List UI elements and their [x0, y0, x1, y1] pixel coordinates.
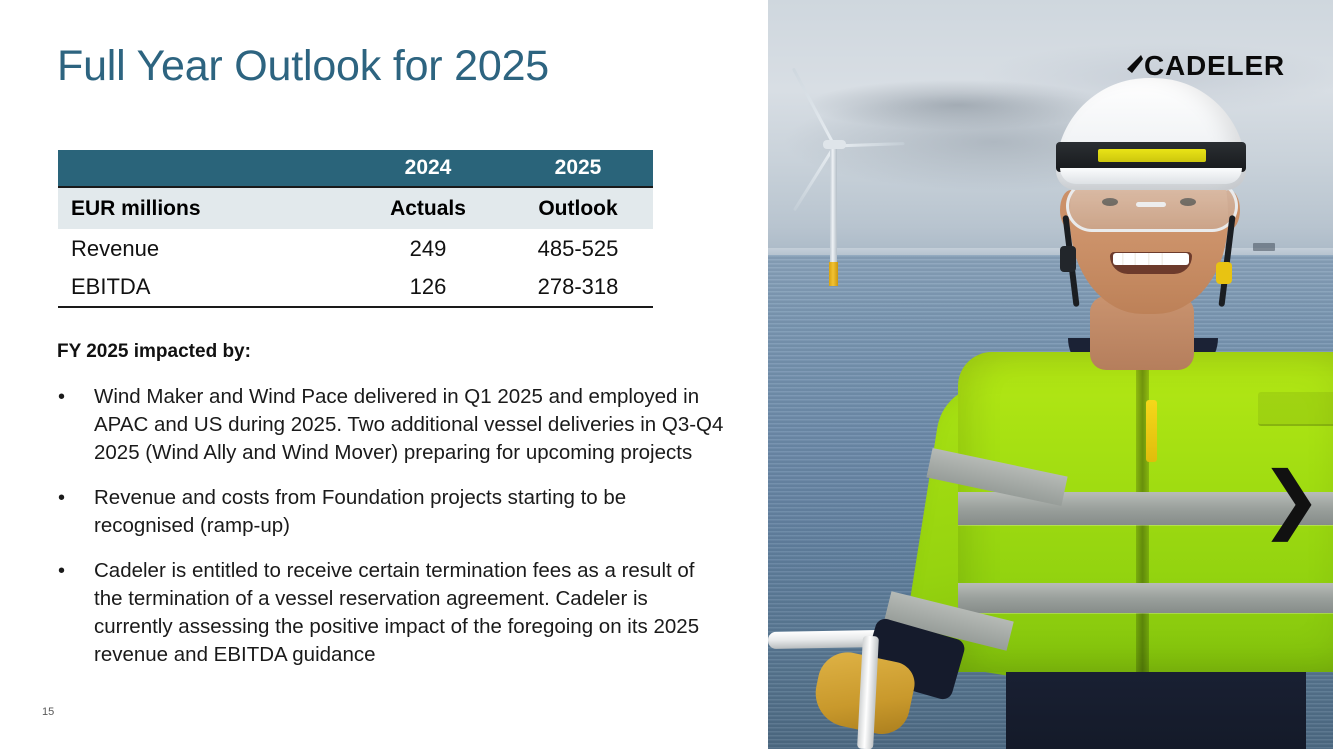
bullet-icon: • [58, 557, 65, 585]
header-blank [58, 150, 353, 187]
slide: Full Year Outlook for 2025 2024 2025 EUR… [0, 0, 1333, 749]
header-year-2024: 2024 [353, 150, 503, 187]
outlook-table: 2024 2025 EUR millions Actuals Outlook R… [58, 150, 653, 308]
cadeler-wordmark: CADELER [1144, 50, 1285, 82]
ebitda-outlook-2025: 278-318 [503, 268, 653, 307]
cadeler-logo: CADELER [1124, 50, 1285, 82]
table-row: Revenue 249 485-525 [58, 229, 653, 268]
strap-clip [1060, 246, 1076, 272]
worker-mouth [1110, 252, 1192, 274]
helmet-brim [1060, 168, 1242, 184]
worker-trousers [1006, 660, 1306, 749]
ebitda-actuals-2024: 126 [353, 268, 503, 307]
page-title: Full Year Outlook for 2025 [57, 42, 549, 91]
bullet-icon: • [58, 383, 65, 411]
impact-heading: FY 2025 impacted by: [57, 341, 251, 363]
header-units: EUR millions [58, 187, 353, 229]
header-outlook: Outlook [503, 187, 653, 229]
table-row: EBITDA 126 278-318 [58, 268, 653, 307]
worker-teeth [1113, 253, 1189, 265]
content-pane: Full Year Outlook for 2025 2024 2025 EUR… [0, 0, 768, 749]
row-label-ebitda: EBITDA [58, 268, 353, 307]
strap-buckle [1216, 262, 1232, 284]
helmet-yellow-stripe [1098, 149, 1206, 162]
header-year-2025: 2025 [503, 150, 653, 187]
cadeler-chevron-icon [1124, 53, 1143, 79]
page-number: 15 [42, 706, 54, 718]
table-header-years: 2024 2025 [58, 150, 653, 187]
list-item: • Revenue and costs from Foundation proj… [57, 484, 727, 540]
jacket-cadeler-mark: ❮ [1260, 468, 1322, 536]
revenue-actuals-2024: 249 [353, 229, 503, 268]
list-item-text: Wind Maker and Wind Pace delivered in Q1… [94, 385, 723, 464]
hero-photo: ❮ [768, 0, 1333, 749]
list-item-text: Revenue and costs from Foundation projec… [94, 486, 626, 537]
worker-figure: ❮ [768, 0, 1333, 749]
table-subheader: EUR millions Actuals Outlook [58, 187, 653, 229]
zip-pull [1146, 400, 1157, 462]
list-item: • Wind Maker and Wind Pace delivered in … [57, 383, 727, 467]
row-label-revenue: Revenue [58, 229, 353, 268]
list-item-text: Cadeler is entitled to receive certain t… [94, 559, 699, 666]
list-item: • Cadeler is entitled to receive certain… [57, 557, 727, 669]
glasses-bridge [1136, 202, 1166, 207]
revenue-outlook-2025: 485-525 [503, 229, 653, 268]
bullet-list: • Wind Maker and Wind Pace delivered in … [57, 383, 727, 686]
header-actuals: Actuals [353, 187, 503, 229]
reflective-stripe [958, 583, 1333, 613]
jacket-pocket [1258, 392, 1333, 426]
bullet-icon: • [58, 484, 65, 512]
